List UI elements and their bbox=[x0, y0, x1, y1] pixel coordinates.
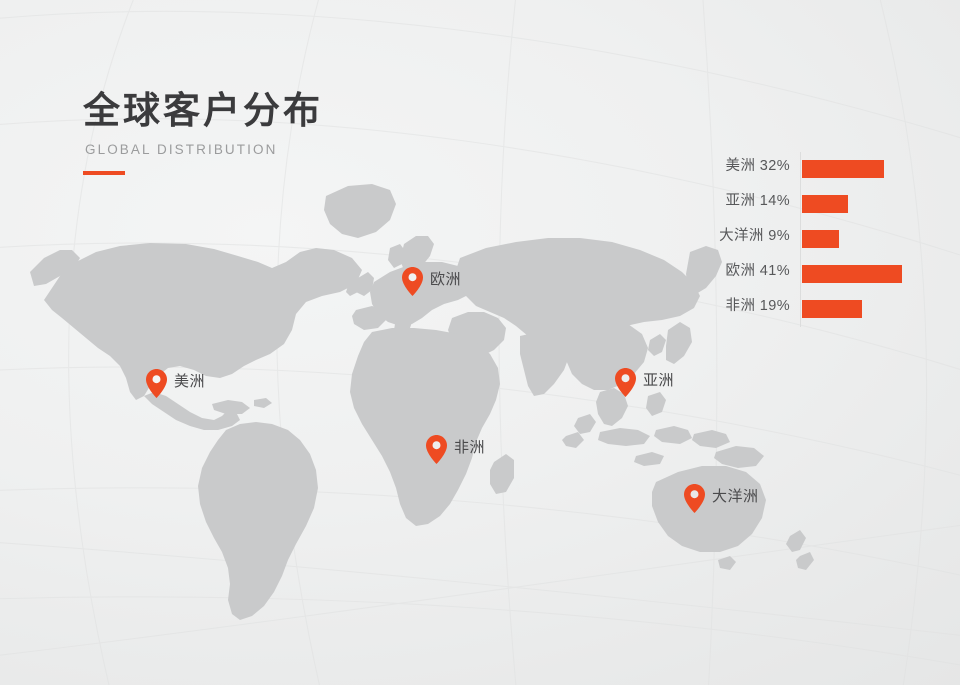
chart-row-label: 非洲 19% bbox=[650, 294, 790, 315]
chart-row-label: 美洲 32% bbox=[650, 154, 790, 175]
chart-row[interactable]: 非洲 19% bbox=[700, 292, 915, 327]
chart-bar bbox=[802, 195, 848, 213]
map-marker-label: 欧洲 bbox=[430, 268, 461, 289]
map-pin-icon bbox=[402, 267, 423, 296]
map-pin-icon bbox=[426, 435, 447, 464]
chart-row-label: 大洋洲 9% bbox=[650, 224, 790, 245]
map-marker-oceania[interactable]: 大洋洲 bbox=[684, 484, 759, 513]
title-accent-rule bbox=[83, 171, 125, 175]
map-pin-icon bbox=[146, 369, 167, 398]
distribution-bar-chart: 美洲 32% 亚洲 14% 大洋洲 9% 欧洲 41% 非洲 19% bbox=[700, 152, 915, 327]
chart-bar bbox=[802, 160, 884, 178]
map-pin-icon bbox=[684, 484, 705, 513]
map-marker-americas[interactable]: 美洲 bbox=[146, 369, 205, 398]
chart-row[interactable]: 大洋洲 9% bbox=[700, 222, 915, 257]
chart-bar bbox=[802, 265, 902, 283]
chart-row-label: 欧洲 41% bbox=[650, 259, 790, 280]
map-marker-europe[interactable]: 欧洲 bbox=[402, 267, 461, 296]
map-pin-icon bbox=[615, 368, 636, 397]
title-block: 全球客户分布 GLOBAL DISTRIBUTION bbox=[83, 90, 483, 175]
page-subtitle: GLOBAL DISTRIBUTION bbox=[85, 142, 483, 157]
chart-row[interactable]: 美洲 32% bbox=[700, 152, 915, 187]
map-marker-label: 亚洲 bbox=[643, 369, 674, 390]
map-marker-asia[interactable]: 亚洲 bbox=[615, 368, 674, 397]
chart-row[interactable]: 欧洲 41% bbox=[700, 257, 915, 292]
chart-bar bbox=[802, 300, 862, 318]
chart-bar bbox=[802, 230, 839, 248]
chart-row[interactable]: 亚洲 14% bbox=[700, 187, 915, 222]
slide-root: 全球客户分布 GLOBAL DISTRIBUTION 美洲 欧洲 非洲 亚洲 bbox=[0, 0, 960, 685]
chart-row-label: 亚洲 14% bbox=[650, 189, 790, 210]
map-marker-label: 非洲 bbox=[454, 436, 485, 457]
page-title: 全球客户分布 bbox=[83, 90, 483, 133]
map-marker-label: 美洲 bbox=[174, 370, 205, 391]
map-marker-label: 大洋洲 bbox=[712, 485, 759, 506]
map-marker-africa[interactable]: 非洲 bbox=[426, 435, 485, 464]
